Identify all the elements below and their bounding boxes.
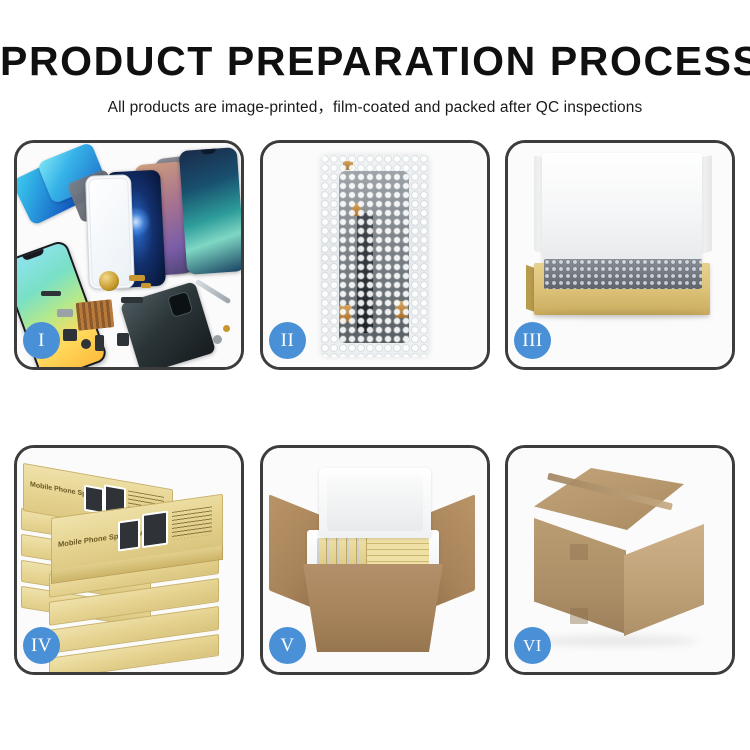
bubble-texture [544,259,702,289]
step-badge-5: V [269,627,306,664]
process-step-1[interactable]: I [14,140,244,370]
page-subtitle: All products are image-printed，film-coat… [0,95,750,117]
bubble-texture [321,155,429,357]
product-preparation-poster: PRODUCT PREPARATION PROCESS All products… [0,0,750,750]
small-part-icon [121,297,143,303]
step-badge-1: I [23,322,60,359]
drop-shadow [536,636,698,646]
process-step-6[interactable]: VI [505,445,735,675]
small-part-icon [63,329,77,341]
carton-side-face [624,524,704,636]
page-title: PRODUCT PREPARATION PROCESS [0,40,750,83]
step-badge-6: VI [514,627,551,664]
process-step-5[interactable]: V [260,445,490,675]
bubble-wrap-bag-icon [321,155,429,357]
small-part-icon [57,309,73,317]
small-part-icon [223,325,230,332]
small-part-icon [81,339,91,349]
process-step-4[interactable]: Mobile Phone Spare Parts Mobile Phone Sp… [14,445,244,675]
logic-board-icon [76,299,115,331]
step-badge-2: II [269,322,306,359]
white-box-lid-icon [542,153,702,269]
process-step-2[interactable]: II [260,140,490,370]
carton-flap-tab [570,544,588,560]
process-step-grid: I II [14,140,736,740]
poster-header: PRODUCT PREPARATION PROCESS All products… [0,0,750,117]
step-badge-3: III [514,322,551,359]
phone-rear-housing-icon [120,281,216,370]
step-badge-4: IV [23,627,60,664]
bubble-wrapped-contents [544,259,702,289]
teal-phone-icon [179,147,244,275]
process-step-3[interactable]: III [505,140,735,370]
small-part-icon [141,283,151,288]
box-stack: Mobile Phone Spare Parts Mobile Phone Sp… [21,466,239,656]
speaker-component-icon [99,271,119,291]
small-part-icon [129,275,145,281]
small-part-icon [117,333,129,346]
drop-shadow [534,311,710,319]
small-part-icon [41,291,61,296]
small-part-icon [95,335,104,351]
carton-body-icon [303,564,443,652]
screen-photo [118,518,140,551]
carton-flap-tab [570,608,588,624]
small-part-icon [213,335,222,344]
spec-lines [172,506,212,540]
screen-photo [142,511,168,549]
foam-lid-icon [319,468,431,538]
